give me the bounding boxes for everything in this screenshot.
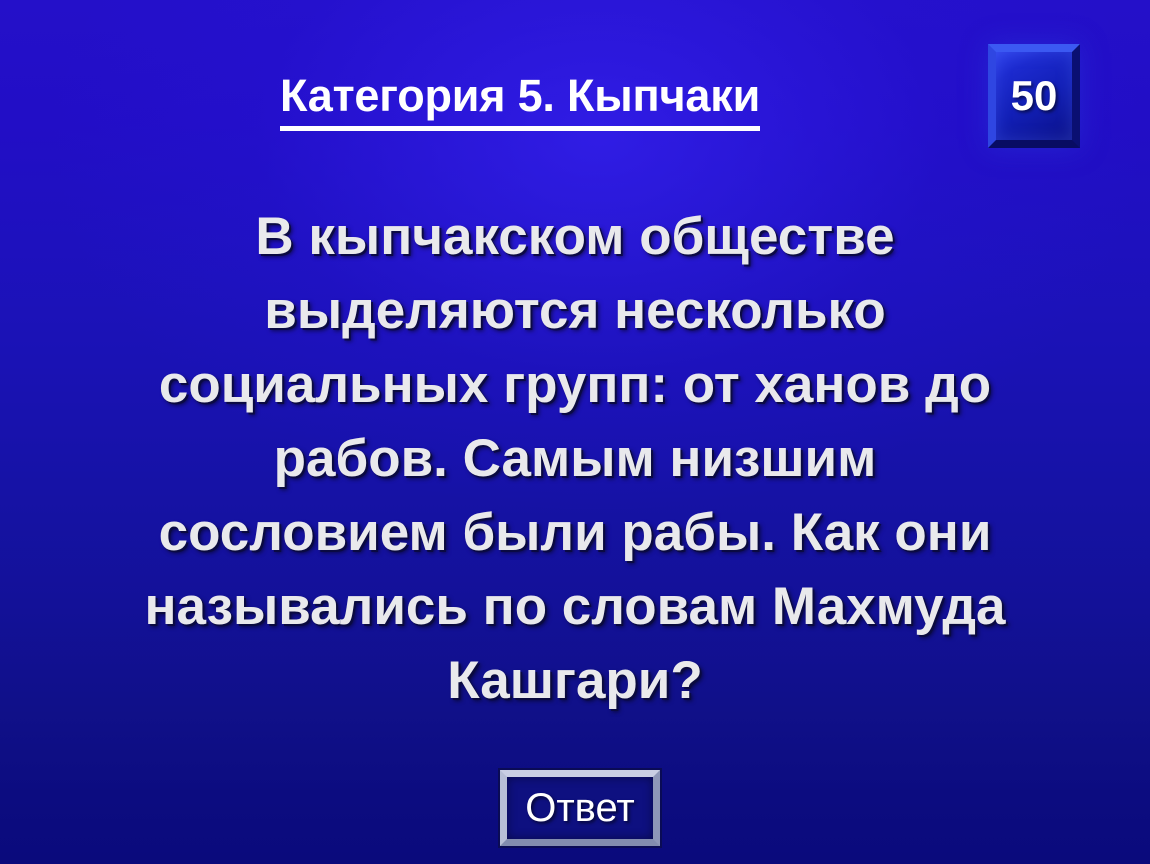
- category-title-container: Категория 5. Кыпчаки: [0, 72, 1040, 131]
- question-line: Кашгари?: [40, 644, 1110, 718]
- question-line: выделяются несколько: [40, 274, 1110, 348]
- question-line: рабов. Самым низшим: [40, 422, 1110, 496]
- score-badge: 50: [988, 44, 1080, 148]
- score-badge-value: 50: [1011, 75, 1058, 117]
- question-line: В кыпчакском обществе: [40, 200, 1110, 274]
- jeopardy-question-slide: Категория 5. Кыпчаки 50 В кыпчакском общ…: [0, 0, 1150, 864]
- question-line: социальных групп: от ханов до: [40, 348, 1110, 422]
- answer-button-label: Ответ: [525, 788, 634, 828]
- answer-button[interactable]: Ответ: [500, 770, 660, 846]
- category-title: Категория 5. Кыпчаки: [280, 72, 760, 131]
- question-text-block: В кыпчакском обществе выделяются несколь…: [40, 200, 1110, 718]
- question-line: сословием были рабы. Как они: [40, 496, 1110, 570]
- question-line: назывались по словам Махмуда: [40, 570, 1110, 644]
